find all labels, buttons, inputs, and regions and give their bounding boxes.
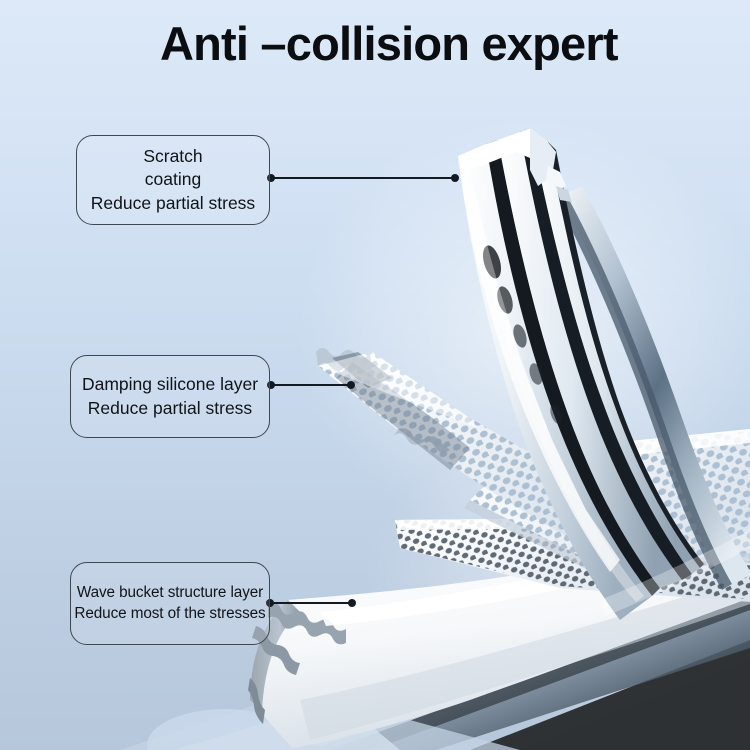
phone-body [470,640,750,750]
phone-screen-edge [286,572,750,750]
callout-wave-bucket-structure-layer: Wave bucket structure layer Reduce most … [70,562,270,645]
callout-line: Damping silicone layer [82,373,258,397]
case-shelf [120,690,520,750]
damping-mesh-band [300,340,640,570]
background-glow-top [300,120,750,540]
callout-line: Reduce partial stress [91,192,255,215]
damping-mesh-lower [380,500,750,620]
surface-reflection [600,530,750,616]
wave-bucket-case [248,516,750,748]
leader-dot-end [347,381,355,389]
page-title: Anti –collision expert [160,16,750,71]
callout-damping-silicone-layer: Damping silicone layer Reduce partial st… [70,355,270,438]
callout-line: Reduce partial stress [88,397,252,421]
callout-line: coating [145,168,201,191]
callout-scratch-coating: Scratch coating Reduce partial stress [76,135,270,225]
leader-dot-end [451,174,459,182]
leader-line-wave-bucket-structure-layer [269,602,353,604]
damping-mesh-wide [450,410,750,580]
callout-line: Wave bucket structure layer [77,583,263,604]
callout-line: Reduce most of the stresses [74,604,265,625]
product-feature-image: Anti –collision expert Scratch coating R… [0,0,750,750]
leader-line-damping-silicone-layer [270,384,352,386]
leader-dot-end [348,599,356,607]
leader-line-scratch-coating [270,177,456,179]
callout-line: Scratch [143,145,202,168]
screen-protector-layers [458,128,750,620]
background-glow-bottom [360,430,750,730]
